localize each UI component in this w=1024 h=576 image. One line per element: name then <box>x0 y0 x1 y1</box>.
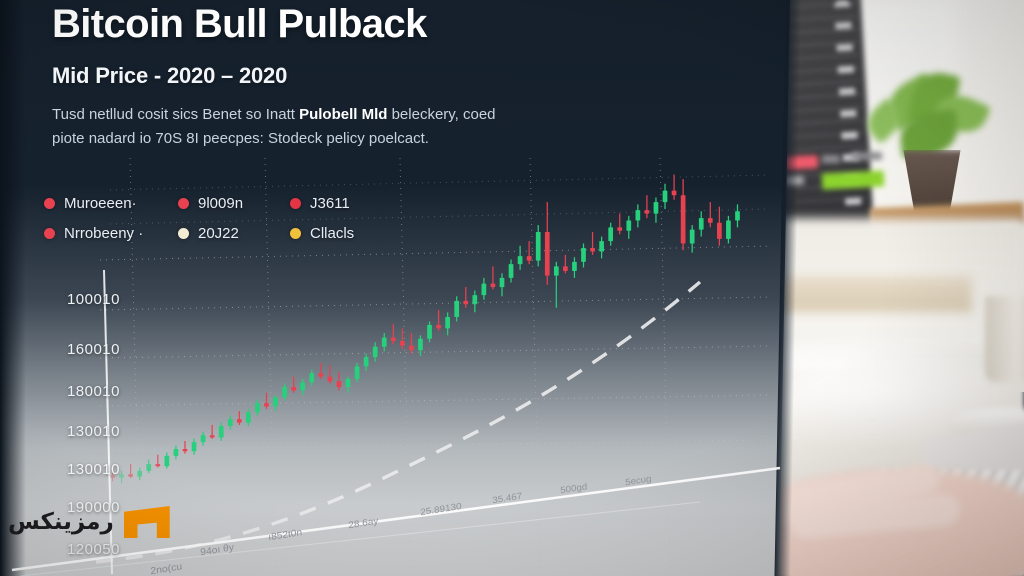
candlestick <box>581 243 586 267</box>
legend-item[interactable]: 20J22 <box>178 225 274 242</box>
candlestick <box>146 459 151 473</box>
candlestick <box>726 216 731 244</box>
candlestick <box>590 232 595 255</box>
candlestick <box>445 312 450 335</box>
candlestick <box>436 310 441 331</box>
candlestick <box>536 225 541 266</box>
legend-color-dot-icon <box>290 198 301 209</box>
candlestick <box>137 467 142 480</box>
candlestick <box>563 255 568 273</box>
candlestick <box>472 291 477 313</box>
watermark: رمزینکس <box>8 506 170 538</box>
candlestick <box>635 204 640 227</box>
page-title: Bitcoin Bull Pulback <box>52 2 752 47</box>
candlestick <box>545 202 550 285</box>
monitor-grey-bar <box>852 152 882 160</box>
body-line1-post: beleckery, coed <box>392 106 496 123</box>
legend-color-dot-icon <box>178 228 189 239</box>
candlestick <box>201 432 206 446</box>
candlestick <box>155 455 160 468</box>
ramzinex-logo-icon <box>124 506 170 538</box>
candlestick <box>409 333 414 354</box>
candlestick <box>527 241 532 264</box>
candlestick <box>346 377 351 393</box>
candlestick <box>373 342 378 362</box>
candlestick <box>418 335 423 356</box>
candlestick <box>518 246 523 270</box>
candlestick <box>364 354 369 371</box>
candlestick <box>219 423 224 441</box>
legend-color-dot-icon <box>290 228 301 239</box>
candlestick <box>300 379 305 395</box>
candlestick <box>228 416 233 430</box>
candlestick <box>482 278 487 300</box>
legend-color-dot-icon <box>178 198 189 209</box>
candlestick <box>708 202 713 227</box>
legend-item[interactable]: J3611 <box>290 195 354 212</box>
legend-label: 20J22 <box>198 225 239 242</box>
monitor-grey-bar <box>822 155 840 163</box>
monitor-green-bar <box>822 170 885 189</box>
candlestick <box>663 184 668 209</box>
candlestick <box>491 266 496 289</box>
candlestick <box>599 237 604 259</box>
candlestick <box>672 175 677 200</box>
candlestick <box>617 214 622 235</box>
body-line2: piote nadard io 70S 8I peecpes: Stodeck … <box>52 130 429 147</box>
candlestick <box>264 393 269 409</box>
y-axis-tick-label: 100010 <box>67 291 120 308</box>
candlestick <box>509 260 514 283</box>
candlestick <box>626 216 631 239</box>
y-axis-tick-label: 120050 <box>67 541 120 558</box>
candlestick <box>246 409 251 426</box>
y-axis-tick-label: 180010 <box>67 383 120 400</box>
y-axis-tick-label: 160010 <box>67 341 120 358</box>
candlestick <box>608 223 613 246</box>
candlestick <box>210 425 215 439</box>
candlestick <box>699 211 704 236</box>
candlestick <box>572 257 577 278</box>
chart-subtitle: Mid Price - 2020 – 2020 <box>52 63 752 89</box>
candlestick <box>328 365 333 383</box>
candlestick <box>645 195 650 218</box>
candlestick <box>500 273 505 296</box>
candlestick <box>237 411 242 425</box>
y-axis-tick-label: 130010 <box>67 461 120 478</box>
candlestick <box>654 198 659 223</box>
watermark-text: رمزینکس <box>8 509 114 535</box>
candlestick <box>454 296 459 321</box>
legend-item[interactable]: Cllacls <box>290 225 354 242</box>
candlestick <box>291 377 296 393</box>
header: Bitcoin Bull Pulback Mid Price - 2020 – … <box>52 2 752 151</box>
candlestick <box>273 395 278 411</box>
y-axis-tick-label: 130010 <box>67 423 120 440</box>
body-line1-emphasis: Pulobell Mld <box>299 106 392 123</box>
candlestick <box>554 262 559 308</box>
legend-item[interactable]: 9l009n <box>178 195 274 212</box>
candlestick <box>318 363 323 379</box>
candlestick <box>382 333 387 351</box>
candlestick <box>255 400 260 416</box>
candlestick <box>309 370 314 386</box>
candlestick <box>282 384 287 401</box>
candlestick <box>337 372 342 390</box>
candlestick <box>165 452 170 468</box>
candlestick <box>690 225 695 253</box>
window-blind <box>772 276 972 312</box>
candlestick <box>355 363 360 383</box>
candlestick <box>735 204 740 227</box>
legend-label: 9l009n <box>198 195 243 212</box>
candlestick <box>174 446 179 460</box>
hero-image: Bitcoin Bull Pulback Mid Price - 2020 – … <box>0 0 1024 576</box>
body-paragraph: Tusd netllud cosit sics Benet so Inatt P… <box>52 103 672 152</box>
candlestick <box>183 441 188 454</box>
candlestick <box>427 322 432 343</box>
legend-label: J3611 <box>310 195 350 212</box>
candlestick <box>391 324 396 345</box>
candlestick <box>717 207 722 246</box>
body-line1-pre: Tusd netllud cosit sics Benet so Inatt <box>52 106 299 123</box>
candlestick <box>681 179 686 250</box>
candlestick <box>463 287 468 308</box>
coffee-cup <box>985 296 1024 382</box>
legend-label: Cllacls <box>310 225 354 242</box>
candlestick <box>128 464 133 478</box>
candlestick <box>192 439 197 455</box>
